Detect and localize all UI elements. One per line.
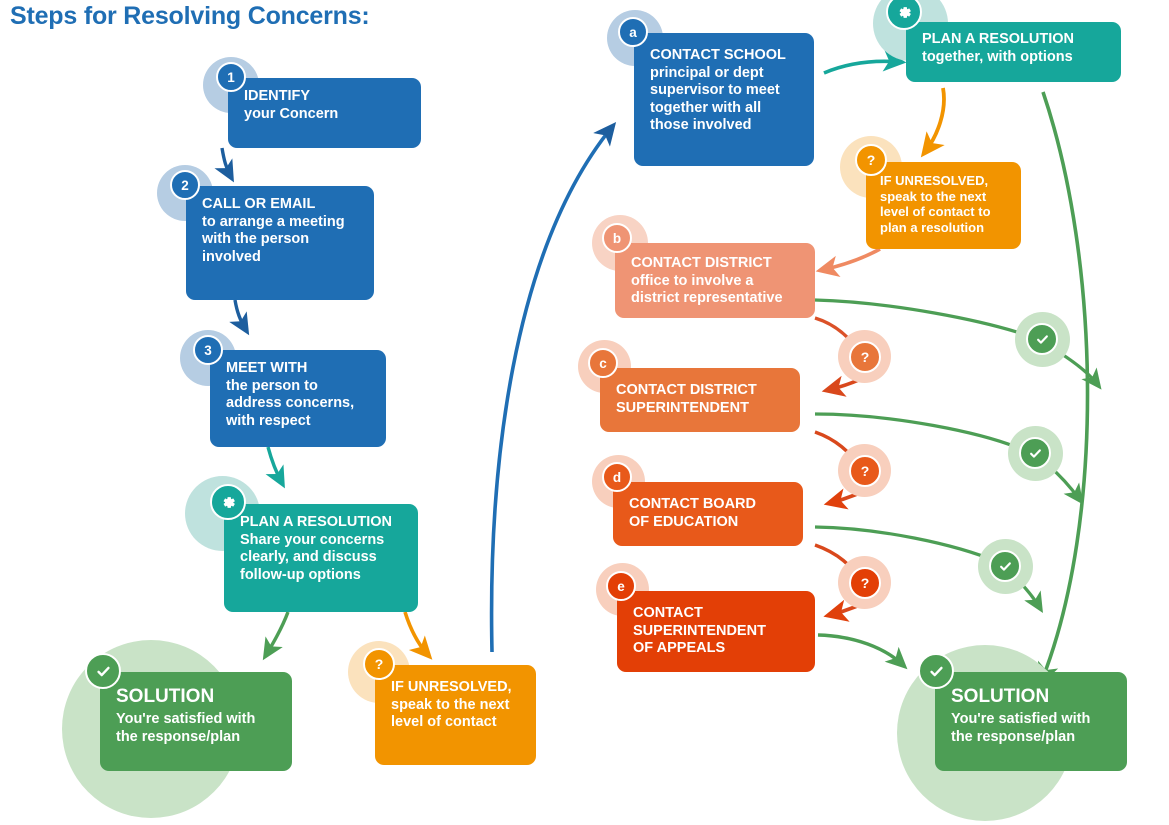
contact-b-badge-label: b — [613, 231, 621, 246]
question-icon: ? — [855, 144, 887, 176]
node-unresolved-right[interactable]: IF UNRESOLVED, speak to the next level o… — [866, 162, 1021, 249]
contact-a-badge-label: a — [629, 25, 637, 40]
node-step-2[interactable]: CALL OR EMAIL to arrange a meeting with … — [186, 186, 374, 300]
node-step-1[interactable]: IDENTIFY your Concern — [228, 78, 421, 148]
check-icon — [918, 653, 954, 689]
arrow-e-solution — [818, 635, 903, 665]
question-marker-2-label: ? — [861, 463, 870, 479]
question-marker-1-label: ? — [861, 349, 870, 365]
node-unresolved-right-heading: IF UNRESOLVED, — [880, 173, 1011, 189]
node-plan-right-body: together, with options — [922, 49, 1109, 67]
arrow-c-check2 — [815, 414, 1028, 452]
node-contact-a-heading: CONTACT SCHOOL — [650, 47, 802, 65]
node-contact-a[interactable]: CONTACT SCHOOL principal or dept supervi… — [634, 33, 814, 166]
arrow-plan-solution-right — [1042, 92, 1088, 680]
node-step-3-heading: MEET WITH — [226, 360, 374, 378]
node-contact-e-heading: CONTACT SUPERINTENDENT OF APPEALS — [633, 605, 803, 658]
node-unresolved-right-body: speak to the next level of contact to pl… — [880, 189, 1011, 236]
contact-a-badge: a — [618, 17, 648, 47]
page-title: Steps for Resolving Concerns: — [10, 2, 370, 31]
node-solution-right-body: You're satisfied with the response/plan — [951, 711, 1115, 746]
node-unresolved-left-body: speak to the next level of contact — [391, 697, 524, 732]
arrow-unresolved-b — [822, 249, 880, 270]
check-icon — [989, 550, 1021, 582]
node-solution-left-heading: SOLUTION — [116, 685, 280, 708]
node-solution-left[interactable]: SOLUTION You're satisfied with the respo… — [100, 672, 292, 771]
check-icon — [85, 653, 121, 689]
arrow-plan-unresolved — [405, 612, 428, 655]
question-icon: ? — [849, 455, 881, 487]
step-3-badge-label: 3 — [204, 343, 212, 358]
arrow-d-check3 — [815, 527, 998, 562]
node-contact-c[interactable]: CONTACT DISTRICT SUPERINTENDENT — [600, 368, 800, 432]
node-contact-a-body: principal or dept supervisor to meet tog… — [650, 65, 802, 135]
node-step-1-heading: IDENTIFY — [244, 88, 409, 106]
gear-icon — [210, 484, 246, 520]
check-icon — [1026, 323, 1058, 355]
step-2-badge: 2 — [170, 170, 200, 200]
node-contact-c-heading: CONTACT DISTRICT SUPERINTENDENT — [616, 382, 788, 417]
unresolved-left-badge-label: ? — [375, 656, 384, 672]
arrow-b-check1 — [815, 300, 1035, 338]
node-plan-left[interactable]: PLAN A RESOLUTION Share your concerns cl… — [224, 504, 418, 612]
node-plan-left-heading: PLAN A RESOLUTION — [240, 514, 406, 532]
node-plan-right-heading: PLAN A RESOLUTION — [922, 31, 1109, 49]
node-step-3-body: the person to address concerns, with res… — [226, 378, 374, 431]
step-3-badge: 3 — [193, 335, 223, 365]
node-step-2-heading: CALL OR EMAIL — [202, 196, 362, 214]
node-contact-b-heading: CONTACT DISTRICT — [631, 255, 803, 273]
contact-e-badge: e — [606, 571, 636, 601]
arrow-step3-plan — [268, 447, 282, 483]
node-unresolved-left[interactable]: IF UNRESOLVED, speak to the next level o… — [375, 665, 536, 765]
arrow-step2-step3 — [235, 300, 246, 330]
node-contact-d[interactable]: CONTACT BOARD OF EDUCATION — [613, 482, 803, 546]
question-marker-3-label: ? — [861, 575, 870, 591]
question-icon: ? — [849, 567, 881, 599]
contact-c-badge: c — [588, 348, 618, 378]
contact-d-badge: d — [602, 462, 632, 492]
unresolved-right-badge-label: ? — [867, 152, 876, 168]
node-step-2-body: to arrange a meeting with the person inv… — [202, 214, 362, 267]
contact-c-badge-label: c — [599, 356, 607, 371]
node-unresolved-left-heading: IF UNRESOLVED, — [391, 679, 524, 697]
node-plan-right[interactable]: PLAN A RESOLUTION together, with options — [906, 22, 1121, 82]
arrow-plan-solution — [266, 612, 288, 655]
node-contact-e[interactable]: CONTACT SUPERINTENDENT OF APPEALS — [617, 591, 815, 672]
question-icon: ? — [363, 648, 395, 680]
node-step-1-body: your Concern — [244, 106, 409, 124]
arrow-step1-step2 — [222, 148, 231, 177]
check-icon — [1019, 437, 1051, 469]
node-step-3[interactable]: MEET WITH the person to address concerns… — [210, 350, 386, 447]
arrow-a-plan — [824, 61, 900, 73]
node-contact-b[interactable]: CONTACT DISTRICT office to involve a dis… — [615, 243, 815, 318]
step-1-badge: 1 — [216, 62, 246, 92]
node-contact-d-heading: CONTACT BOARD OF EDUCATION — [629, 496, 791, 531]
arrow-plan-unresolved-right — [925, 88, 944, 152]
node-plan-left-body: Share your concerns clearly, and discuss… — [240, 532, 406, 585]
question-icon: ? — [849, 341, 881, 373]
contact-e-badge-label: e — [617, 579, 625, 594]
contact-d-badge-label: d — [613, 470, 621, 485]
step-1-badge-label: 1 — [227, 70, 235, 85]
node-solution-left-body: You're satisfied with the response/plan — [116, 711, 280, 746]
contact-b-badge: b — [602, 223, 632, 253]
node-contact-b-body: office to involve a district representat… — [631, 273, 803, 308]
node-solution-right[interactable]: SOLUTION You're satisfied with the respo… — [935, 672, 1127, 771]
diagram-canvas: Steps for Resolving Concerns: — [0, 0, 1169, 825]
step-2-badge-label: 2 — [181, 178, 189, 193]
node-solution-right-heading: SOLUTION — [951, 685, 1115, 708]
